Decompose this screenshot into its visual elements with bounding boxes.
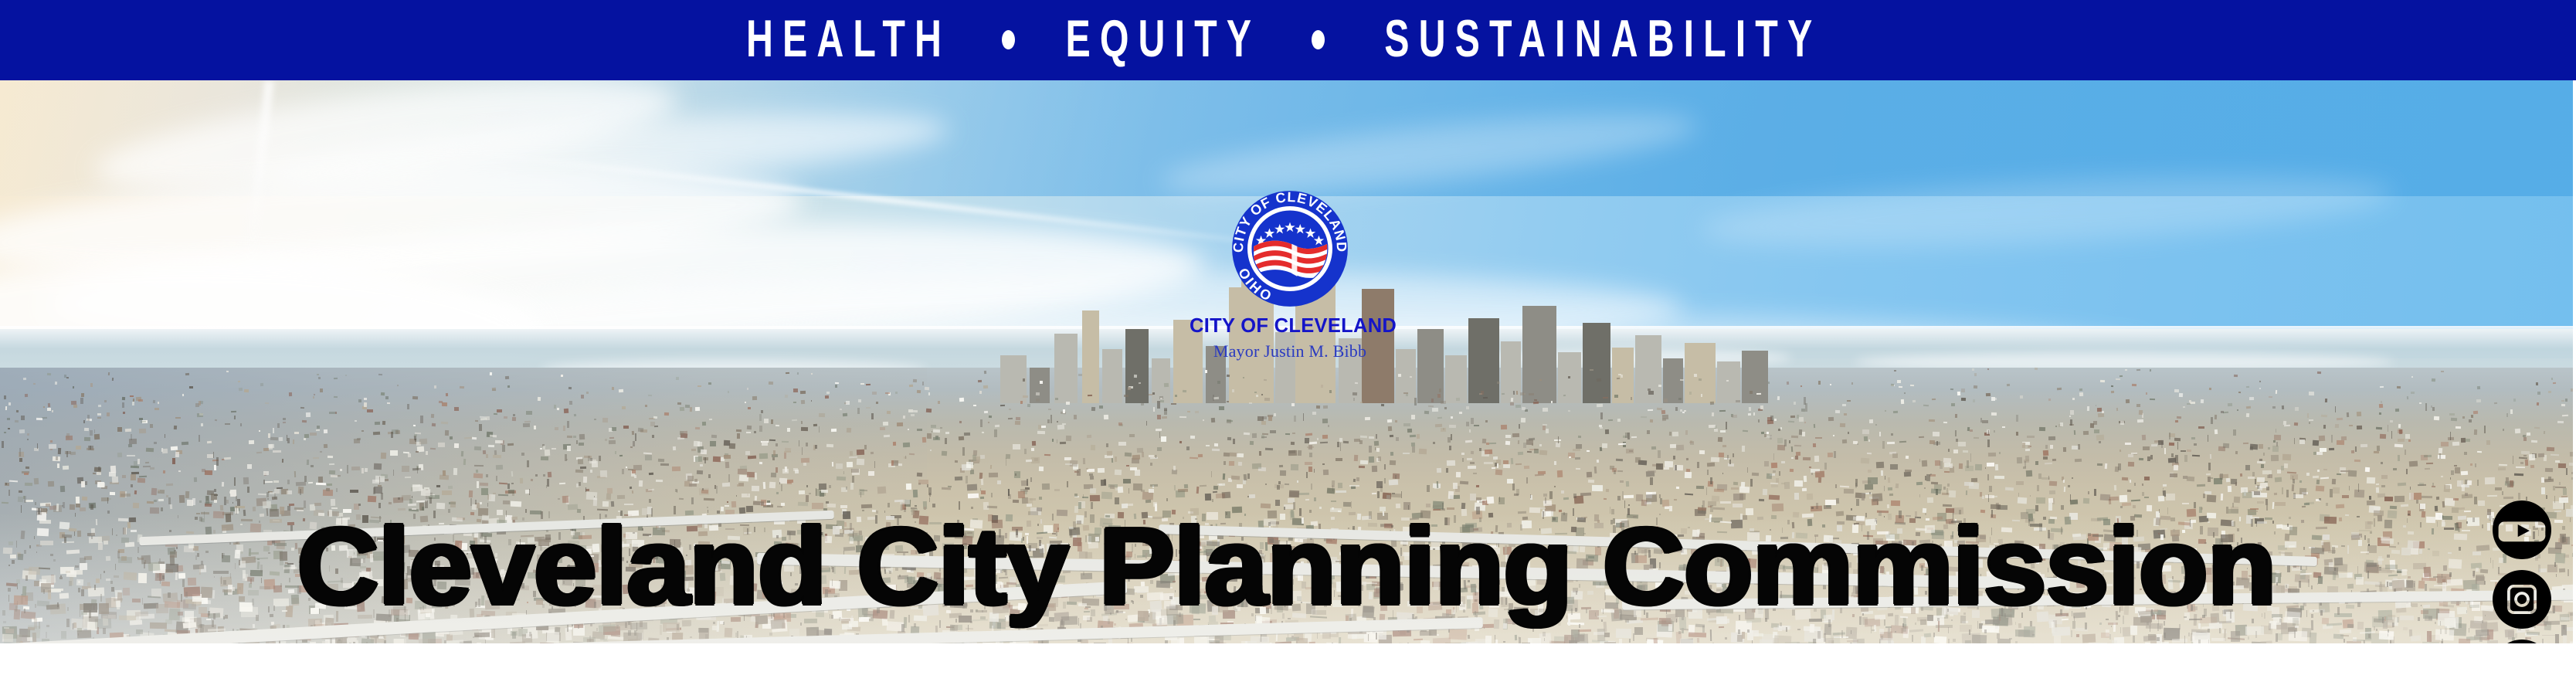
urban-texture-block <box>326 488 331 491</box>
urban-texture-block <box>1890 464 1898 470</box>
urban-texture-block <box>1160 436 1166 442</box>
urban-texture-block <box>179 495 185 503</box>
urban-texture-block <box>1389 480 1398 486</box>
urban-texture-block <box>785 395 788 399</box>
urban-texture-block <box>772 457 775 460</box>
urban-texture-block <box>2551 378 2553 380</box>
urban-texture-block <box>1789 469 1793 472</box>
urban-texture-block <box>36 418 42 420</box>
urban-texture-block <box>121 397 124 400</box>
urban-texture-block <box>441 422 448 425</box>
urban-texture-block <box>134 490 137 494</box>
urban-texture-block <box>1756 393 1761 395</box>
urban-texture-block <box>2335 424 2339 428</box>
urban-texture-block <box>308 482 313 484</box>
urban-texture-block <box>1173 466 1176 470</box>
urban-texture-block <box>2407 395 2409 399</box>
urban-texture-block <box>9 480 18 482</box>
urban-texture-block <box>125 428 131 431</box>
urban-texture-block <box>2294 422 2298 426</box>
urban-texture-block <box>1224 453 1230 457</box>
urban-texture-block <box>460 450 463 456</box>
urban-texture-block <box>75 504 80 507</box>
urban-texture-block <box>25 394 28 397</box>
urban-texture-block <box>928 392 930 395</box>
urban-texture-block <box>1717 437 1722 442</box>
urban-texture-block <box>324 444 328 449</box>
urban-texture-block <box>1646 494 1658 502</box>
urban-texture-block <box>1459 412 1462 414</box>
urban-texture-block <box>876 402 878 404</box>
urban-texture-block <box>150 467 154 470</box>
urban-texture-block <box>1089 488 1096 494</box>
urban-texture-block <box>979 473 983 479</box>
urban-texture-block <box>1115 497 1119 505</box>
urban-texture-block <box>1186 446 1190 450</box>
urban-texture-block <box>2541 477 2544 483</box>
urban-texture-block <box>1459 480 1468 484</box>
urban-texture-block <box>872 392 877 395</box>
urban-texture-block <box>1684 409 1686 411</box>
urban-texture-block <box>47 373 51 376</box>
urban-texture-block <box>294 471 295 477</box>
urban-texture-block <box>1431 399 1434 402</box>
urban-texture-block <box>1616 459 1623 461</box>
urban-texture-block <box>1722 445 1726 447</box>
urban-texture-block <box>1052 439 1054 442</box>
urban-texture-block <box>84 428 90 431</box>
urban-texture-block <box>1731 487 1739 490</box>
urban-texture-block <box>695 456 702 463</box>
urban-texture-block <box>2432 378 2435 382</box>
urban-texture-block <box>1140 403 1143 405</box>
urban-texture-block <box>1139 382 1141 384</box>
urban-texture-block <box>870 452 873 454</box>
urban-texture-block <box>1264 379 1267 381</box>
urban-texture-block <box>81 496 87 500</box>
urban-texture-block <box>2460 437 2465 442</box>
urban-texture-block <box>906 484 912 490</box>
urban-texture-block <box>1112 458 1114 463</box>
urban-texture-block <box>1894 370 1896 372</box>
urban-texture-block <box>762 441 768 446</box>
urban-texture-block <box>2455 467 2460 473</box>
urban-texture-block <box>222 482 224 487</box>
urban-texture-block <box>1970 429 1973 432</box>
urban-texture-block <box>1686 458 1688 460</box>
urban-texture-block <box>1485 420 1488 422</box>
urban-texture-block <box>2453 498 2459 501</box>
urban-texture-block <box>2109 496 2118 500</box>
urban-texture-block <box>1714 429 1718 432</box>
urban-texture-block <box>2467 480 2472 484</box>
urban-texture-block <box>1606 489 1609 492</box>
urban-texture-block <box>709 419 712 421</box>
urban-texture-block <box>1397 374 1400 377</box>
urban-texture-block <box>1066 402 1070 405</box>
urban-texture-block <box>2268 447 2270 450</box>
urban-texture-block <box>1600 427 1603 429</box>
urban-texture-block <box>2349 425 2353 426</box>
urban-texture-block <box>1944 471 1950 473</box>
urban-texture-block <box>2527 433 2531 436</box>
urban-texture-block <box>1098 468 1105 473</box>
urban-texture-block <box>2541 487 2545 494</box>
urban-texture-block <box>1388 426 1392 431</box>
urban-texture-block <box>2562 415 2569 417</box>
urban-texture-block <box>2347 412 2349 417</box>
urban-texture-block <box>1238 462 1242 466</box>
urban-texture-block <box>1055 398 1058 400</box>
urban-texture-block <box>2531 440 2537 443</box>
urban-texture-block <box>438 442 445 446</box>
tagline-word-equity: EQUITY <box>1065 13 1261 66</box>
urban-texture-block <box>33 382 36 384</box>
urban-texture-block <box>380 453 386 459</box>
urban-texture-block <box>1892 453 1898 458</box>
urban-texture-block <box>1539 379 1542 381</box>
urban-texture-block <box>1013 444 1020 450</box>
urban-texture-block <box>2259 388 2261 389</box>
urban-texture-block <box>2313 440 2319 446</box>
urban-texture-block <box>224 456 231 459</box>
urban-texture-block <box>1390 460 1396 464</box>
urban-texture-block <box>1802 432 1805 436</box>
urban-texture-block <box>1015 421 1020 425</box>
urban-texture-block <box>2005 487 2014 490</box>
urban-texture-block <box>583 476 588 482</box>
urban-texture-block <box>755 496 757 500</box>
urban-texture-block <box>1975 463 1982 470</box>
urban-texture-block <box>1889 493 1893 495</box>
urban-texture-block <box>1851 382 1852 385</box>
urban-texture-block <box>1312 412 1316 415</box>
urban-texture-block <box>2150 399 2155 401</box>
urban-texture-block <box>1791 446 1794 452</box>
urban-texture-block <box>1761 432 1764 434</box>
urban-texture-block <box>626 467 628 468</box>
urban-texture-block <box>1743 429 1748 431</box>
urban-texture-block <box>1000 404 1005 406</box>
urban-texture-block <box>864 445 867 450</box>
urban-texture-block <box>2466 439 2470 442</box>
urban-texture-block <box>779 478 787 484</box>
urban-texture-block <box>2214 415 2216 419</box>
urban-texture-block <box>1466 422 1469 426</box>
urban-texture-block <box>318 477 323 484</box>
urban-texture-block <box>365 468 368 472</box>
urban-texture-block <box>883 422 888 426</box>
urban-texture-block <box>508 490 514 494</box>
urban-texture-block <box>1658 385 1661 387</box>
urban-texture-block <box>2273 493 2276 496</box>
urban-texture-block <box>847 461 853 467</box>
urban-texture-block <box>989 416 992 418</box>
urban-texture-block <box>540 448 542 450</box>
urban-texture-block <box>1437 467 1441 472</box>
urban-texture-block <box>2257 501 2264 504</box>
urban-texture-block <box>2136 404 2140 407</box>
urban-texture-block <box>792 419 797 420</box>
urban-texture-block <box>238 388 243 391</box>
urban-texture-block <box>1351 486 1356 489</box>
urban-texture-block <box>1534 449 1539 453</box>
urban-texture-block <box>725 462 729 469</box>
urban-texture-block <box>243 477 249 485</box>
urban-texture-block <box>1190 436 1195 439</box>
urban-texture-block <box>480 483 488 487</box>
urban-texture-block <box>2336 504 2344 508</box>
urban-texture-block <box>1062 423 1066 425</box>
urban-texture-block <box>722 482 731 486</box>
urban-texture-block <box>1103 415 1108 419</box>
urban-texture-block <box>504 416 507 418</box>
urban-texture-block <box>913 410 918 412</box>
urban-texture-block <box>19 490 22 493</box>
urban-texture-block <box>2337 417 2343 420</box>
urban-texture-block <box>2519 456 2527 459</box>
urban-texture-block <box>1369 436 1374 439</box>
urban-texture-block <box>2442 501 2445 507</box>
urban-texture-block <box>1448 490 1454 498</box>
urban-texture-block <box>98 405 101 407</box>
urban-texture-block <box>23 378 26 381</box>
urban-texture-block <box>903 415 905 418</box>
urban-texture-block <box>927 433 932 439</box>
urban-texture-block <box>2234 375 2238 377</box>
urban-texture-block <box>1065 463 1072 464</box>
urban-texture-block <box>2017 457 2022 463</box>
urban-texture-block <box>158 499 164 501</box>
urban-texture-block <box>1115 469 1122 475</box>
urban-texture-block <box>1261 421 1266 425</box>
urban-texture-block <box>1439 389 1441 392</box>
urban-texture-block <box>2069 415 2070 416</box>
urban-texture-block <box>989 473 998 477</box>
urban-texture-block <box>586 392 589 394</box>
urban-texture-block <box>1670 444 1676 448</box>
urban-texture-block <box>1680 409 1682 411</box>
urban-texture-block <box>2094 489 2096 496</box>
urban-texture-block <box>214 419 216 421</box>
urban-texture-block <box>1354 455 1359 461</box>
urban-texture-block <box>1336 490 1346 493</box>
urban-texture-block <box>4 395 6 399</box>
urban-texture-block <box>1213 486 1218 490</box>
urban-texture-block <box>708 382 711 385</box>
urban-texture-block <box>2063 487 2065 492</box>
urban-texture-block <box>942 450 948 455</box>
urban-texture-block <box>1322 419 1329 423</box>
urban-texture-block <box>1157 415 1161 419</box>
urban-texture-block <box>1162 416 1167 419</box>
urban-texture-block <box>2142 484 2143 486</box>
urban-texture-block <box>1455 472 1460 477</box>
urban-texture-block <box>615 451 617 454</box>
urban-texture-block <box>1929 419 1935 422</box>
urban-texture-block <box>1524 466 1529 469</box>
urban-texture-block <box>238 381 240 383</box>
urban-texture-block <box>1088 395 1092 396</box>
urban-texture-block <box>865 384 870 385</box>
urban-texture-block <box>2426 463 2433 464</box>
urban-texture-block <box>645 405 647 407</box>
urban-texture-block <box>2049 490 2055 494</box>
urban-texture-block <box>90 383 93 387</box>
urban-texture-block <box>1711 457 1719 462</box>
urban-texture-block <box>1047 409 1050 410</box>
urban-texture-block <box>1175 395 1177 397</box>
urban-texture-block <box>959 398 965 402</box>
urban-texture-block <box>1672 432 1679 436</box>
urban-texture-block <box>73 386 74 389</box>
urban-texture-block <box>2275 502 2286 506</box>
urban-texture-block <box>1232 389 1234 392</box>
urban-texture-block <box>306 412 311 417</box>
urban-texture-block <box>607 488 613 494</box>
urban-texture-block <box>967 484 977 491</box>
urban-texture-block <box>50 449 53 450</box>
urban-texture-block <box>771 473 776 477</box>
urban-texture-block <box>1308 467 1312 472</box>
urban-texture-block <box>522 423 529 427</box>
urban-texture-block <box>2441 442 2449 446</box>
urban-texture-block <box>1974 436 1979 438</box>
urban-texture-block <box>1227 437 1231 440</box>
urban-texture-block <box>368 496 376 503</box>
urban-texture-block <box>2498 467 2506 470</box>
urban-texture-block <box>2476 450 2481 452</box>
urban-texture-block <box>568 387 572 389</box>
urban-texture-block <box>1203 419 1204 421</box>
urban-texture-block <box>1505 435 1511 438</box>
urban-texture-block <box>476 470 478 473</box>
page-root: HEALTH EQUITY SUSTAINABILITY <box>0 0 2576 682</box>
urban-texture-block <box>128 444 132 447</box>
urban-texture-block <box>1395 420 1397 422</box>
urban-texture-block <box>318 377 321 379</box>
urban-texture-block <box>980 478 983 485</box>
urban-texture-block <box>1503 464 1510 469</box>
urban-texture-block <box>1322 435 1328 439</box>
urban-texture-block <box>1839 423 1845 428</box>
urban-texture-block <box>537 397 540 401</box>
urban-texture-block <box>531 479 533 481</box>
urban-texture-block <box>1656 463 1664 470</box>
urban-texture-block <box>2516 467 2525 468</box>
urban-texture-block <box>416 451 419 453</box>
urban-texture-block <box>43 406 46 409</box>
urban-texture-block <box>489 435 496 438</box>
urban-texture-block <box>2408 439 2411 442</box>
urban-texture-block <box>575 470 583 473</box>
urban-texture-block <box>287 490 292 494</box>
urban-texture-block <box>76 497 80 504</box>
urban-texture-block <box>776 467 778 473</box>
urban-texture-block <box>903 442 911 446</box>
urban-texture-block <box>1449 446 1451 450</box>
urban-texture-block <box>784 453 786 459</box>
urban-texture-block <box>5 406 7 410</box>
urban-texture-block <box>525 411 531 415</box>
urban-texture-block <box>1694 374 1697 377</box>
urban-texture-block <box>1719 410 1726 412</box>
urban-texture-block <box>97 412 101 415</box>
urban-texture-block <box>269 443 274 447</box>
urban-texture-block <box>15 420 19 422</box>
urban-texture-block <box>897 422 903 426</box>
urban-texture-block <box>1441 428 1446 432</box>
urban-texture-block <box>2394 496 2405 502</box>
urban-texture-block <box>1934 484 1942 490</box>
urban-texture-block <box>2249 443 2257 450</box>
urban-texture-block <box>826 392 830 394</box>
urban-texture-block <box>580 467 586 469</box>
urban-texture-block <box>1974 373 1977 376</box>
urban-texture-block <box>727 391 729 393</box>
urban-texture-block <box>145 462 149 463</box>
urban-texture-block <box>170 446 177 451</box>
urban-texture-block <box>2235 451 2238 454</box>
urban-texture-block <box>806 495 809 502</box>
urban-texture-block <box>866 407 871 409</box>
urban-texture-block <box>2116 378 2120 380</box>
urban-texture-block <box>745 402 746 403</box>
urban-texture-block <box>1538 471 1546 474</box>
urban-texture-block <box>1359 466 1365 468</box>
urban-texture-block <box>628 469 633 471</box>
urban-texture-block <box>146 448 154 452</box>
urban-texture-block <box>2187 403 2191 405</box>
urban-texture-block <box>793 402 796 403</box>
urban-texture-block <box>1763 489 1768 495</box>
urban-texture-block <box>1815 470 1825 477</box>
urban-texture-block <box>1840 485 1849 487</box>
urban-texture-block <box>933 437 940 440</box>
urban-texture-block <box>2307 413 2309 418</box>
urban-texture-block <box>566 446 570 451</box>
urban-texture-block <box>1483 462 1492 464</box>
urban-texture-block <box>2246 406 2251 409</box>
urban-texture-block <box>76 446 81 450</box>
urban-texture-block <box>2398 438 2405 441</box>
urban-texture-block <box>270 436 278 439</box>
urban-texture-block <box>2245 465 2250 470</box>
urban-texture-block <box>1502 393 1505 395</box>
urban-texture-block <box>2452 441 2459 446</box>
urban-texture-block <box>1336 458 1342 461</box>
urban-texture-block <box>1254 392 1257 393</box>
urban-texture-block <box>2366 477 2374 484</box>
urban-texture-block <box>1586 471 1591 477</box>
urban-texture-block <box>1912 400 1916 402</box>
urban-texture-block <box>93 473 96 475</box>
urban-texture-block <box>2551 454 2559 456</box>
urban-texture-block <box>1955 414 1957 418</box>
urban-texture-block <box>463 459 466 465</box>
urban-texture-block <box>1018 490 1025 497</box>
urban-texture-block <box>1065 436 1071 441</box>
tagline-banner-inner: HEALTH EQUITY SUSTAINABILITY <box>738 19 1838 59</box>
urban-texture-block <box>1961 389 1965 392</box>
urban-texture-block <box>2469 463 2472 466</box>
urban-texture-block <box>1932 398 1936 399</box>
urban-texture-block <box>48 481 54 487</box>
urban-texture-block <box>1124 395 1128 397</box>
urban-texture-block <box>1359 435 1366 438</box>
urban-texture-block <box>1799 429 1802 435</box>
urban-texture-block <box>2274 435 2281 440</box>
